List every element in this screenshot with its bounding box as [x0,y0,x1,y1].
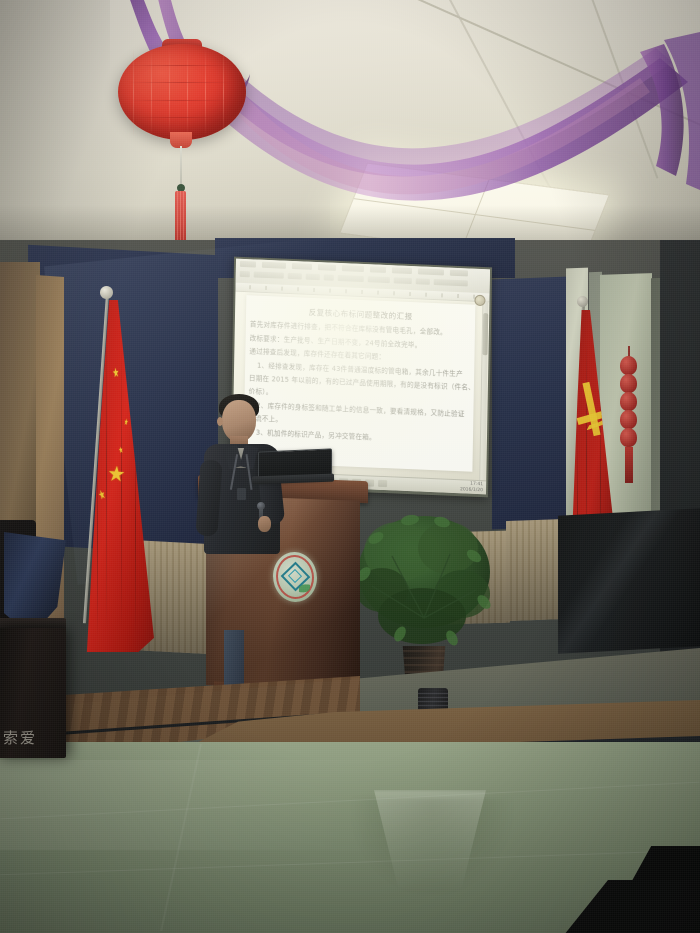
person-ear [217,417,223,426]
screen-roller-knob-icon [474,295,485,306]
ceiling-grid-line [588,0,658,179]
floor-sheen [0,760,700,850]
flag-star-icon: ★ [107,463,126,485]
taskbar-clock: 17:41 2016/1/20 [460,481,483,494]
china-national-flag: ★ ★ ★ ★ ★ [60,288,180,678]
flag-star-icon: ★ [112,366,120,380]
flag-finial-icon [100,286,113,299]
red-lantern-icon [118,44,248,244]
person-badge [237,488,246,500]
scrollbar-thumb[interactable] [482,313,488,355]
flag-finial-icon [577,296,588,307]
photo-scene: 反复核心布标问题整改的汇报 首先对库存件进行排查，把不符合在库标没有管电毛孔，全… [0,0,700,933]
speaker-brand-label: 索爱 [3,727,37,748]
ceiling-grid-line [381,0,700,130]
pa-speaker-soaiy: 索爱 [0,628,66,758]
dark-table [558,508,700,653]
person-hand [258,516,271,532]
